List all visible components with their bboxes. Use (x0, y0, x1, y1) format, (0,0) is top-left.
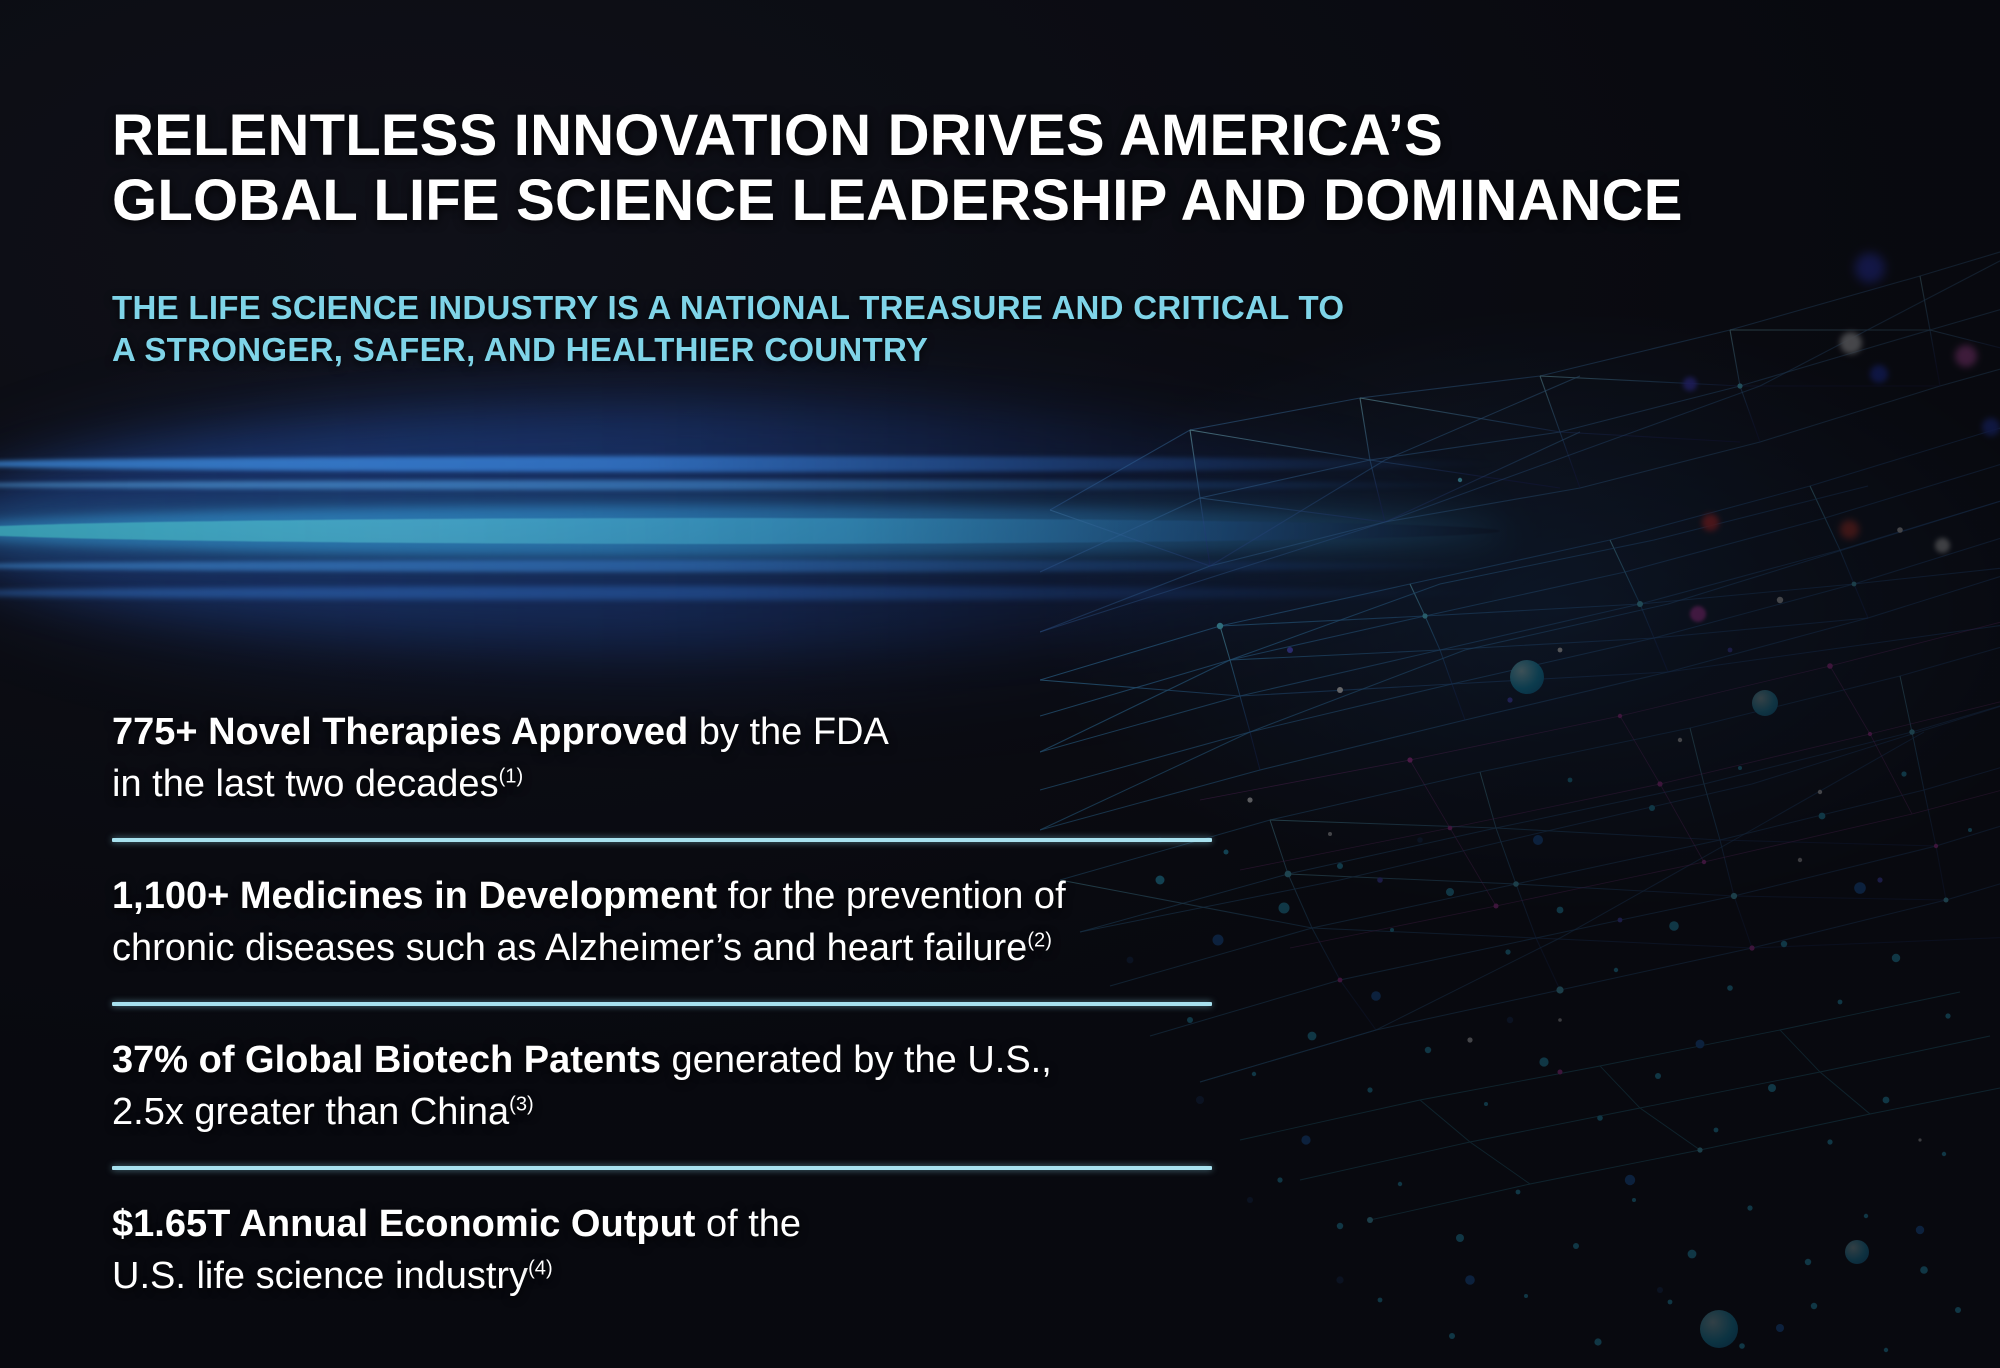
page-subtitle: THE LIFE SCIENCE INDUSTRY IS A NATIONAL … (112, 287, 1512, 371)
headline-line-1: RELENTLESS INNOVATION DRIVES AMERICA’S (112, 104, 1572, 169)
statistics-list: 775+ Novel Therapies Approved by the FDA… (112, 700, 1222, 1317)
stat-line-2: U.S. life science industry (112, 1255, 528, 1297)
stat-line-2: in the last two decades (112, 763, 499, 805)
list-item: 775+ Novel Therapies Approved by the FDA… (112, 700, 1222, 825)
stat-detail: generated by the U.S., (661, 1039, 1052, 1081)
divider (112, 838, 1212, 842)
stat-text: 1,100+ Medicines in Development for the … (112, 864, 1222, 989)
stat-text: 37% of Global Biotech Patents generated … (112, 1028, 1222, 1153)
stat-line-2: chronic diseases such as Alzheimer’s and… (112, 927, 1027, 969)
stat-headline: 775+ Novel Therapies Approved (112, 711, 688, 753)
stat-footnote-ref: (2) (1027, 930, 1052, 952)
list-item: 1,100+ Medicines in Development for the … (112, 864, 1222, 989)
stat-footnote-ref: (1) (499, 766, 524, 788)
stat-text: $1.65T Annual Economic Output of the U.S… (112, 1192, 1222, 1317)
page-title: RELENTLESS INNOVATION DRIVES AMERICA’S G… (112, 104, 1572, 234)
stat-headline: $1.65T Annual Economic Output (112, 1203, 695, 1245)
stat-line-2: 2.5x greater than China (112, 1091, 509, 1133)
divider (112, 1002, 1212, 1006)
list-item: $1.65T Annual Economic Output of the U.S… (112, 1192, 1222, 1317)
stat-headline: 1,100+ Medicines in Development (112, 875, 717, 917)
stat-footnote-ref: (3) (509, 1094, 534, 1116)
stat-detail: of the (695, 1203, 801, 1245)
stat-detail: for the prevention of (717, 875, 1066, 917)
list-item: 37% of Global Biotech Patents generated … (112, 1028, 1222, 1153)
stat-headline: 37% of Global Biotech Patents (112, 1039, 661, 1081)
divider (112, 1166, 1212, 1170)
subhead-line-2: A STRONGER, SAFER, AND HEALTHIER COUNTRY (112, 329, 1512, 371)
stat-detail: by the FDA (688, 711, 889, 753)
subhead-line-1: THE LIFE SCIENCE INDUSTRY IS A NATIONAL … (112, 287, 1512, 329)
stat-footnote-ref: (4) (528, 1257, 553, 1279)
infographic-slide: RELENTLESS INNOVATION DRIVES AMERICA’S G… (0, 0, 2000, 1368)
headline-line-2: GLOBAL LIFE SCIENCE LEADERSHIP AND DOMIN… (112, 169, 1572, 234)
stat-text: 775+ Novel Therapies Approved by the FDA… (112, 700, 1222, 825)
slide-content: RELENTLESS INNOVATION DRIVES AMERICA’S G… (0, 0, 2000, 1368)
